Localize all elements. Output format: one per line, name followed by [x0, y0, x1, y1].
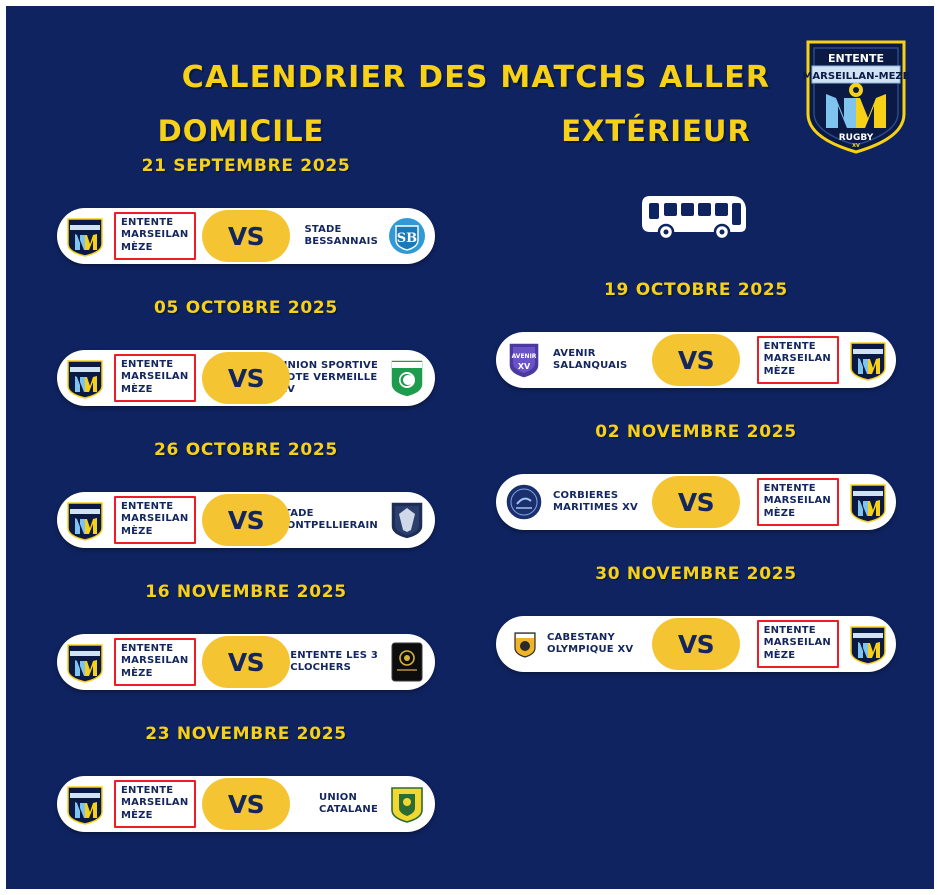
vs-badge: VS — [202, 352, 290, 404]
team-name-opponent: UNION CATALANE — [319, 792, 378, 816]
match-date: 26 OCTOBRE 2025 — [26, 440, 466, 460]
bus-icon-wrapper — [476, 188, 916, 244]
vs-badge: VS — [202, 494, 290, 546]
team-name-own: ENTENTE MARSEILAN MÈZE — [114, 212, 196, 260]
svg-text:ENTENTE: ENTENTE — [828, 52, 884, 65]
union-catalane-crest — [387, 782, 427, 826]
team-name-own: ENTENTE MARSEILAN MÈZE — [114, 638, 196, 686]
svg-text:AVENIR: AVENIR — [512, 353, 537, 360]
team-name-opponent: AVENIR SALANQUAIS — [553, 348, 627, 372]
svg-text:RUGBY: RUGBY — [839, 133, 874, 143]
match-date: 21 SEPTEMBRE 2025 — [26, 156, 466, 176]
team-name-own: ENTENTE MARSEILAN MÈZE — [757, 336, 839, 384]
match-row[interactable]: AVENIRXV AVENIR SALANQUAIS VS ENTENTE MA… — [496, 332, 896, 388]
match-date: 16 NOVEMBRE 2025 — [26, 582, 466, 602]
entente-marseillan-meze-crest — [65, 214, 105, 258]
team-name-own: ENTENTE MARSEILAN MÈZE — [757, 478, 839, 526]
svg-text:MARSEILLAN-MEZE: MARSEILLAN-MEZE — [802, 71, 909, 82]
team-name-opponent: STADE BESSANNAIS — [304, 224, 378, 248]
match-date: 23 NOVEMBRE 2025 — [26, 724, 466, 744]
entente-marseillan-meze-crest — [848, 622, 888, 666]
entente-marseillan-meze-crest — [848, 338, 888, 382]
team-name-opponent: ENTENTE LES 3 CLOCHERS — [290, 650, 378, 674]
entente-marseillan-meze-crest — [65, 356, 105, 400]
union-sportive-cote-vermeille-crest — [387, 356, 427, 400]
team-name-opponent: UNION SPORTIVE COTE VERMEILLE XV — [279, 360, 378, 395]
stade-bessannais-crest: SB — [387, 216, 427, 256]
match-date: 30 NOVEMBRE 2025 — [476, 564, 916, 584]
svg-text:SB: SB — [397, 231, 417, 246]
corbieres-maritimes-crest — [504, 482, 544, 522]
match-row[interactable]: ENTENTE MARSEILAN MÈZE VS ENTENTE LES 3 … — [57, 634, 435, 690]
team-name-opponent: CABESTANY OLYMPIQUE XV — [547, 632, 633, 656]
match-row[interactable]: CORBIERES MARITIMES XV VS ENTENTE MARSEI… — [496, 474, 896, 530]
match-row[interactable]: ENTENTE MARSEILAN MÈZE VS UNION CATALANE — [57, 776, 435, 832]
match-date: 05 OCTOBRE 2025 — [26, 298, 466, 318]
vs-badge: VS — [202, 636, 290, 688]
team-name-own: ENTENTE MARSEILAN MÈZE — [757, 620, 839, 668]
vs-badge: VS — [202, 210, 290, 262]
team-name-own: ENTENTE MARSEILAN MÈZE — [114, 780, 196, 828]
entente-les-3-clochers-crest — [387, 640, 427, 684]
team-name-own: ENTENTE MARSEILAN MÈZE — [114, 496, 196, 544]
entente-marseillan-meze-crest — [65, 782, 105, 826]
away-matches-column: 19 OCTOBRE 2025 AVENIRXV AVENIR SALANQUA… — [476, 156, 916, 672]
team-name-opponent: STADE MONTPELLIERAIN — [277, 508, 378, 532]
entente-marseillan-meze-crest — [65, 640, 105, 684]
svg-text:XV: XV — [852, 143, 860, 149]
team-name-opponent: CORBIERES MARITIMES XV — [553, 490, 638, 514]
match-row[interactable]: ENTENTE MARSEILAN MÈZE VS UNION SPORTIVE… — [57, 350, 435, 406]
match-row[interactable]: ENTENTE MARSEILAN MÈZE VS STADE BESSANNA… — [57, 208, 435, 264]
stade-montpellierain-crest — [387, 498, 427, 542]
match-calendar-poster: CALENDRIER DES MATCHS ALLER ENTENTE MARS… — [0, 0, 940, 895]
cabestany-olympique-crest — [512, 630, 538, 658]
vs-badge: VS — [652, 334, 740, 386]
home-matches-column: 21 SEPTEMBRE 2025 ENTENTE MARSEILAN MÈZE… — [26, 156, 466, 832]
column-heading-away: EXTÉRIEUR — [476, 114, 836, 148]
entente-marseillan-meze-crest — [848, 480, 888, 524]
avenir-salanquais-crest: AVENIRXV — [504, 338, 544, 382]
column-heading-home: DOMICILE — [6, 114, 476, 148]
vs-badge: VS — [202, 778, 290, 830]
vs-badge: VS — [652, 618, 740, 670]
match-date: 02 NOVEMBRE 2025 — [476, 422, 916, 442]
entente-marseillan-meze-crest — [65, 498, 105, 542]
team-name-own: ENTENTE MARSEILAN MÈZE — [114, 354, 196, 402]
match-row[interactable]: CABESTANY OLYMPIQUE XV VS ENTENTE MARSEI… — [496, 616, 896, 672]
match-date: 19 OCTOBRE 2025 — [476, 280, 916, 300]
svg-text:XV: XV — [518, 362, 531, 371]
bus-icon — [636, 188, 756, 244]
match-row[interactable]: ENTENTE MARSEILAN MÈZE VS STADE MONTPELL… — [57, 492, 435, 548]
vs-badge: VS — [652, 476, 740, 528]
